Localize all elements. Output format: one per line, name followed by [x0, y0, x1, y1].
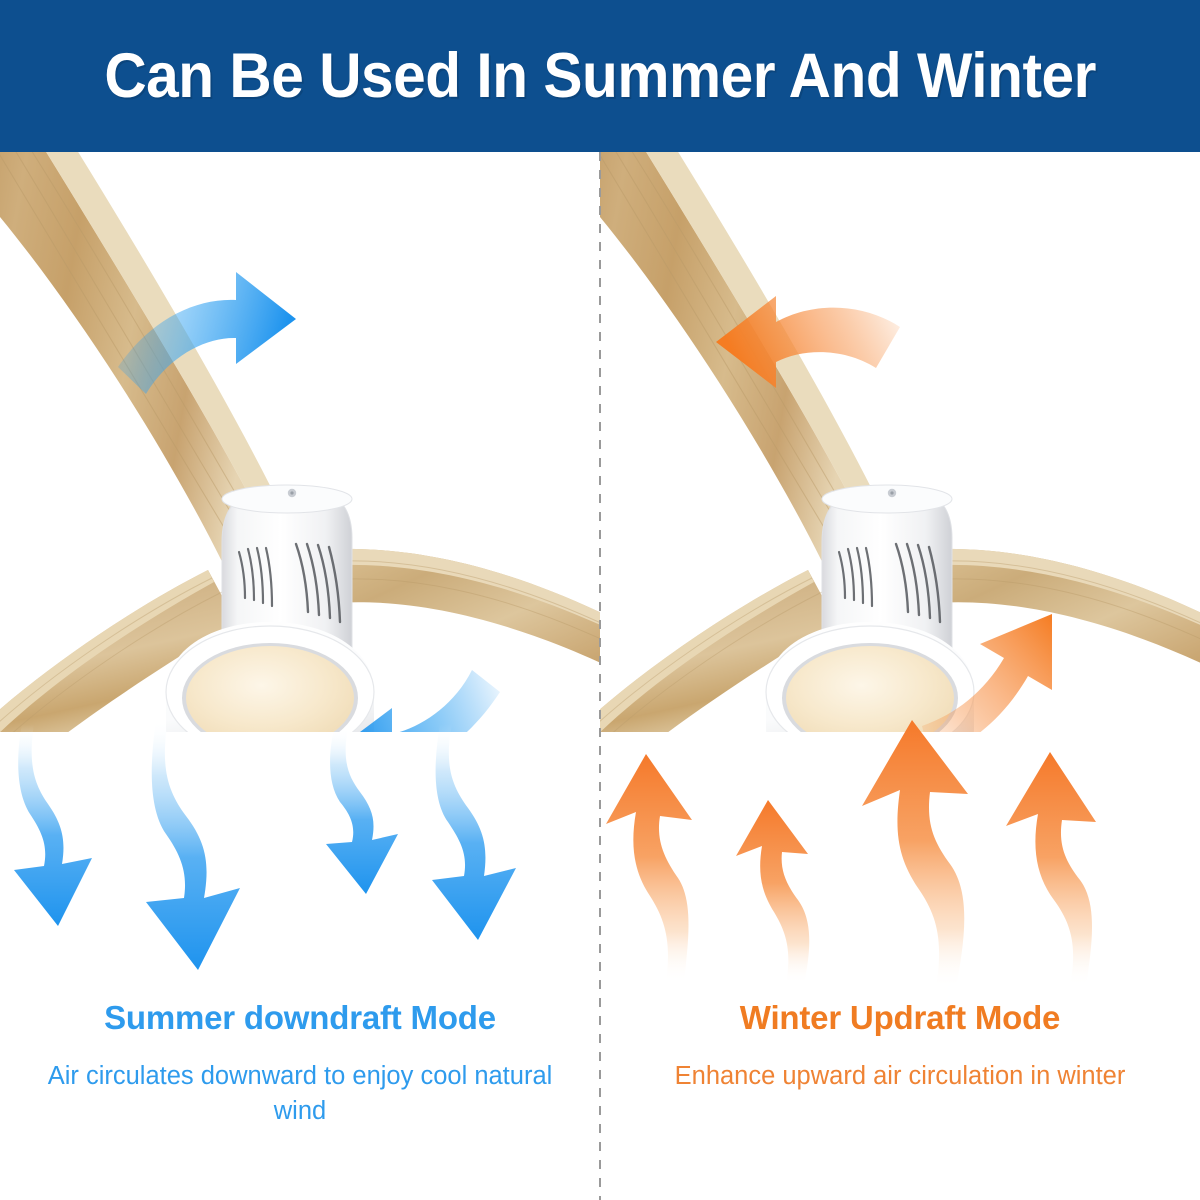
ceiling-fan-illustration-summer [0, 152, 600, 732]
page-title: Can Be Used In Summer And Winter [104, 40, 1096, 112]
ceiling-fan-illustration-winter [600, 152, 1200, 732]
airflow-arrows-summer [0, 712, 600, 992]
airflow-arrow-up-2 [736, 800, 809, 984]
panel-divider [599, 152, 601, 1200]
mode-description-winter: Enhance upward air circulation in winter [600, 1059, 1200, 1094]
airflow-arrows-winter [600, 712, 1200, 992]
airflow-arrow-up-4 [1006, 752, 1096, 986]
airflow-arrow-down-1 [14, 724, 92, 926]
header-banner: Can Be Used In Summer And Winter [0, 0, 1200, 152]
infographic-page: Can Be Used In Summer And Winter [0, 0, 1200, 1200]
airflow-arrow-up-3 [862, 720, 968, 988]
panel-summer: Summer downdraft Mode Air circulates dow… [0, 152, 600, 1200]
fan-blade-right [318, 549, 600, 672]
airflow-arrow-down-3 [326, 728, 398, 894]
mode-title-winter: Winter Updraft Mode [600, 997, 1200, 1038]
mode-description-summer: Air circulates downward to enjoy cool na… [0, 1059, 600, 1129]
mode-title-summer: Summer downdraft Mode [0, 997, 600, 1038]
airflow-arrow-down-2 [146, 720, 240, 970]
airflow-arrow-up-1 [606, 754, 692, 982]
caption-winter: Winter Updraft Mode Enhance upward air c… [600, 997, 1200, 1094]
airflow-arrow-down-4 [432, 724, 516, 940]
caption-summer: Summer downdraft Mode Air circulates dow… [0, 997, 600, 1130]
fan-blade-right [918, 549, 1200, 672]
panel-winter: Winter Updraft Mode Enhance upward air c… [600, 152, 1200, 1200]
